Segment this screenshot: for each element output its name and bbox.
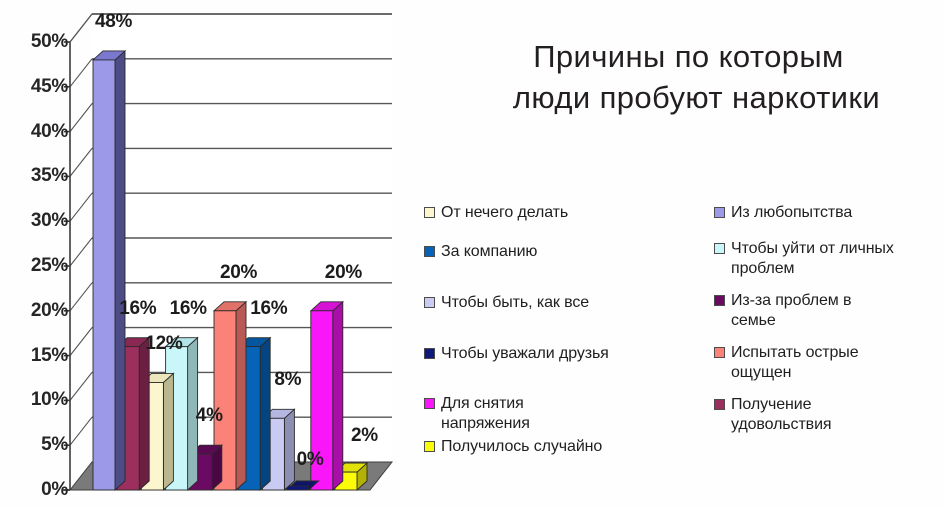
bar-data-label: 8% — [274, 370, 301, 389]
legend-color-swatch-icon — [714, 347, 725, 358]
legend-color-swatch-icon — [714, 295, 725, 306]
chart-container: 50%45%40%35%30%25%20%15%10%5%0% 48%16%12… — [0, 0, 410, 507]
legend-item-label: Получениеудовольствия — [731, 395, 831, 435]
bar-data-label: 16% — [119, 299, 156, 318]
legend-item-label: Для снятиянапряжения — [441, 394, 530, 434]
y-axis-tick-label: 50% — [6, 32, 68, 51]
bar-data-label: 4% — [196, 406, 223, 425]
legend-item[interactable]: Для снятиянапряжения — [424, 394, 530, 434]
chart-legend: От нечего делатьЗа компаниюЧтобы быть, к… — [424, 203, 939, 453]
legend-item[interactable]: Испытать острыеощущен — [714, 343, 859, 383]
chart-title-line-1: Причины по которым — [436, 36, 941, 77]
y-axis-tick-label: 25% — [6, 256, 68, 275]
legend-item-label: От нечего делать — [441, 203, 568, 223]
legend-item[interactable]: От нечего делать — [424, 203, 568, 223]
legend-color-swatch-icon — [424, 398, 435, 409]
bar-data-label: 20% — [220, 263, 257, 282]
legend-color-swatch-icon — [424, 246, 435, 257]
legend-item[interactable]: Чтобы быть, как все — [424, 293, 589, 313]
legend-item-label: Получилось случайно — [441, 437, 602, 457]
bar-data-label: 2% — [351, 426, 378, 445]
y-axis-tick-label: 40% — [6, 122, 68, 141]
legend-color-swatch-icon — [714, 399, 725, 410]
legend-item[interactable]: Получилось случайно — [424, 437, 602, 457]
legend-item-label: Чтобы быть, как все — [441, 293, 589, 313]
bar-data-label: 0% — [297, 450, 324, 469]
chart-title-line-2: люди пробуют наркотики — [452, 77, 941, 118]
legend-item[interactable]: Чтобы уважали друзья — [424, 344, 609, 364]
legend-color-swatch-icon — [424, 348, 435, 359]
legend-item-label: Чтобы уважали друзья — [441, 344, 609, 364]
legend-item-label: За компанию — [441, 242, 537, 262]
bar-data-label: 16% — [170, 299, 207, 318]
y-axis-tick-labels: 50%45%40%35%30%25%20%15%10%5%0% — [0, 0, 68, 507]
chart-title: Причины по которым люди пробуют наркотик… — [436, 36, 941, 118]
legend-item[interactable]: Получениеудовольствия — [714, 395, 831, 435]
legend-item-label: Из-за проблем всемье — [731, 291, 851, 331]
bar-data-label: 20% — [325, 263, 362, 282]
legend-color-swatch-icon — [714, 243, 725, 254]
y-axis-tick-label: 30% — [6, 211, 68, 230]
legend-item[interactable]: Чтобы уйти от личныхпроблем — [714, 239, 894, 279]
y-axis-tick-label: 10% — [6, 390, 68, 409]
bar-data-label: 12% — [145, 334, 182, 353]
legend-color-swatch-icon — [424, 297, 435, 308]
y-axis-tick-label: 20% — [6, 301, 68, 320]
y-axis-tick-label: 15% — [6, 346, 68, 365]
y-axis-tick-label: 35% — [6, 166, 68, 185]
legend-color-swatch-icon — [424, 441, 435, 452]
y-axis-tick-label: 5% — [6, 435, 68, 454]
legend-item-label: Испытать острыеощущен — [731, 343, 859, 383]
legend-item[interactable]: Из любопытства — [714, 203, 852, 223]
legend-color-swatch-icon — [424, 207, 435, 218]
legend-color-swatch-icon — [714, 207, 725, 218]
y-axis-tick-label: 45% — [6, 77, 68, 96]
legend-item-label: Чтобы уйти от личныхпроблем — [731, 239, 894, 279]
bar-data-label: 16% — [250, 299, 287, 318]
legend-item[interactable]: Из-за проблем всемье — [714, 291, 851, 331]
bar-data-label: 48% — [95, 12, 132, 31]
bar-0 — [93, 51, 125, 490]
legend-item-label: Из любопытства — [731, 203, 852, 223]
legend-item[interactable]: За компанию — [424, 242, 537, 262]
y-axis-tick-label: 0% — [6, 480, 68, 499]
